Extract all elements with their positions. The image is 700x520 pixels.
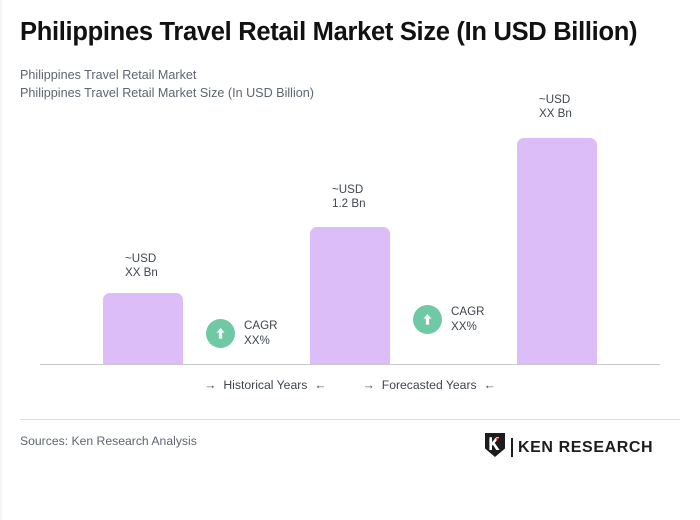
plot-area: ~USD XX Bn CAGR XX% ~USD 1.2 Bn CAGR XX%: [0, 0, 700, 380]
period-band-historical: → Historical Years ←: [204, 378, 326, 392]
up-arrow-icon: [413, 305, 442, 334]
cagr-badge-2: CAGR XX%: [413, 305, 485, 334]
period-band-forecasted: → Forecasted Years ←: [363, 378, 496, 392]
bar-value-label-3: ~USD XX Bn: [539, 93, 572, 122]
period-band-historical-label: Historical Years: [223, 378, 307, 392]
chart-canvas: Philippines Travel Retail Market Size (I…: [0, 0, 700, 520]
footer-divider: [20, 419, 680, 420]
cagr-label-1: CAGR XX%: [244, 319, 278, 348]
period-bands: → Historical Years ← → Forecasted Years …: [0, 378, 700, 392]
up-arrow-icon: [206, 319, 235, 348]
arrow-right-icon: →: [204, 379, 216, 391]
period-band-forecasted-label: Forecasted Years: [382, 378, 477, 392]
sources-note: Sources: Ken Research Analysis: [20, 434, 197, 448]
bar-value-label-2: ~USD 1.2 Bn: [332, 183, 366, 212]
arrow-right-icon: →: [363, 379, 375, 391]
bar-1: [103, 293, 183, 364]
axis-baseline: [40, 364, 660, 365]
cagr-badge-1: CAGR XX%: [206, 319, 278, 348]
arrow-left-icon: ←: [484, 379, 496, 391]
logo-divider: [511, 438, 513, 457]
bar-2: [310, 227, 390, 364]
cagr-label-2: CAGR XX%: [451, 305, 485, 334]
bar-3: [517, 138, 597, 364]
ken-research-shield-icon: [484, 432, 506, 463]
ken-research-logo: KEN RESEARCH: [484, 432, 653, 463]
ken-research-wordmark: KEN RESEARCH: [518, 440, 653, 456]
arrow-left-icon: ←: [314, 379, 326, 391]
bar-value-label-1: ~USD XX Bn: [125, 252, 158, 281]
